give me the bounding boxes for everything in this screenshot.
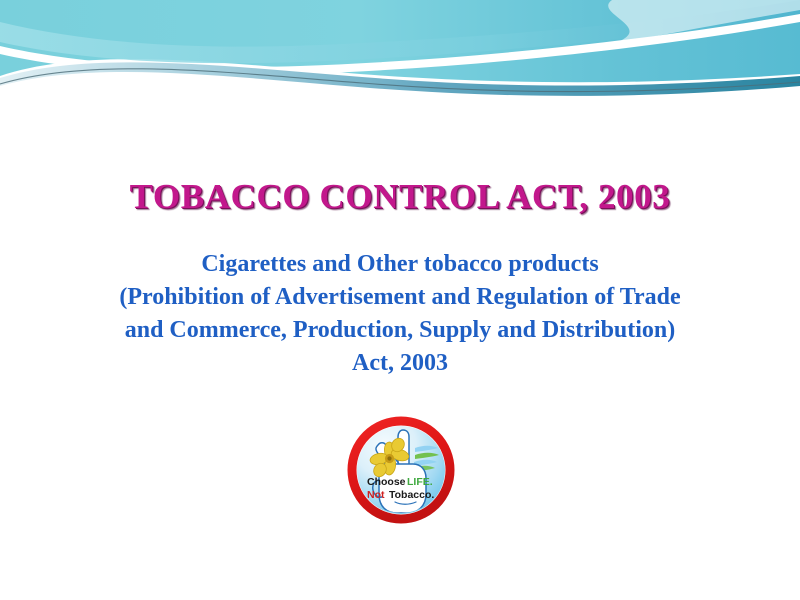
logo-text: Choose LIFE. Not Tobacco.	[367, 476, 434, 501]
logo-text-choose: Choose	[367, 476, 406, 488]
logo-text-not: Not	[367, 489, 385, 501]
presentation-slide: TOBACCO CONTROL ACT, 2003 Cigarettes and…	[0, 0, 800, 600]
wave-white-sliver	[0, 14, 800, 75]
teal-wave-banner	[0, 0, 800, 120]
wave-hairline	[0, 69, 800, 92]
subtitle-line-4: Act, 2003	[0, 347, 800, 380]
subtitle-line-1: Cigarettes and Other tobacco products	[0, 248, 800, 281]
subtitle-line-3: and Commerce, Production, Supply and Dis…	[0, 314, 800, 347]
title-block: TOBACCO CONTROL ACT, 2003	[0, 178, 800, 217]
subtitle-block: Cigarettes and Other tobacco products (P…	[0, 248, 800, 380]
logo-text-tobacco: Tobacco.	[389, 489, 434, 501]
slide-title: TOBACCO CONTROL ACT, 2003	[130, 178, 671, 217]
wave-accent-stroke	[0, 62, 800, 96]
wave-shape-upper	[0, 0, 800, 63]
wave-right-highlight	[608, 0, 800, 44]
logo-text-life: LIFE.	[407, 476, 433, 488]
subtitle-line-2: (Prohibition of Advertisement and Regula…	[0, 281, 800, 314]
choose-life-not-tobacco-logo: Choose LIFE. Not Tobacco.	[345, 414, 457, 526]
wave-shape-main	[0, 0, 800, 82]
